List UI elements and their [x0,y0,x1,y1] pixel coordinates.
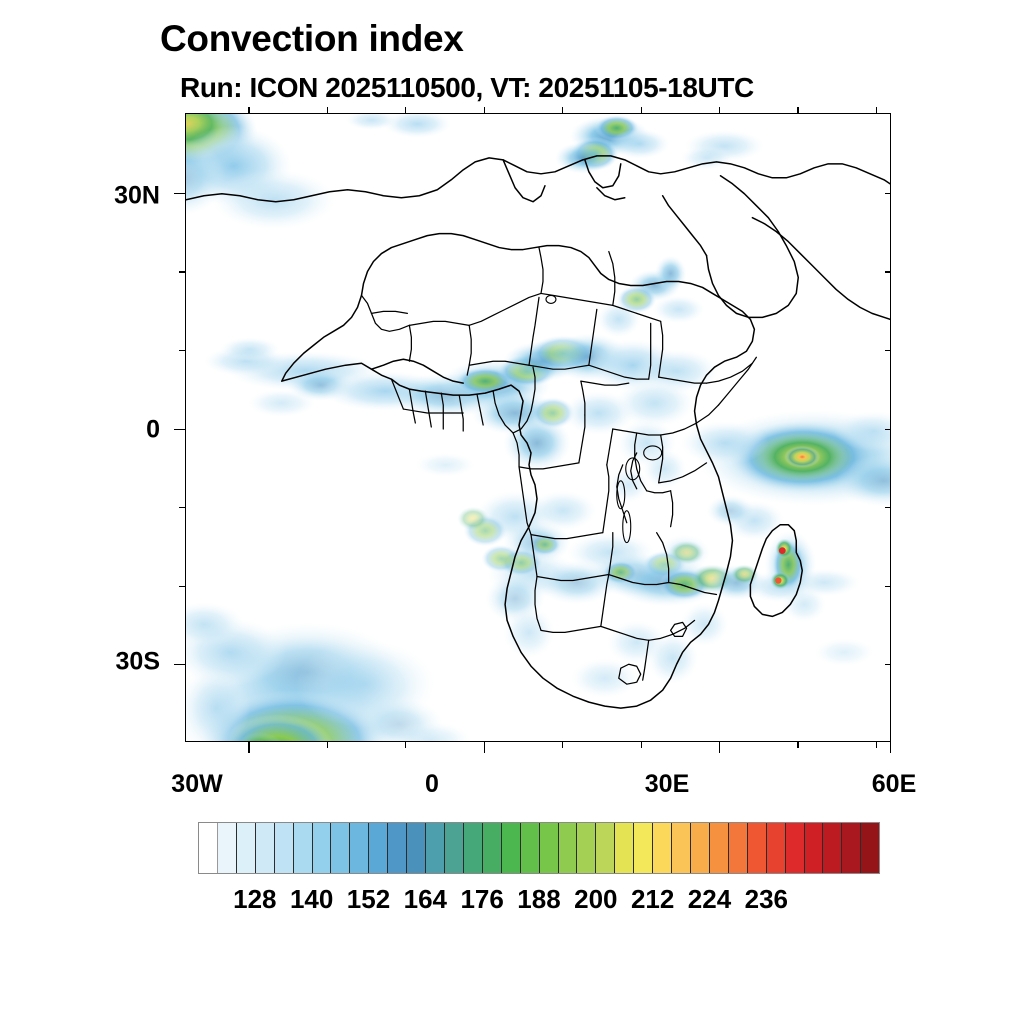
x-tick-60E [890,742,891,753]
colorbar-tick-label: 188 [517,884,560,915]
colorbar-cell [691,823,710,873]
colorbar-cell [369,823,388,873]
x-tick-top-0 [484,107,485,113]
colorbar-cell [294,823,313,873]
x-axis-label-30E: 30E [645,770,689,799]
y-tick-20S [179,586,185,587]
y-tick-30S [174,664,185,665]
colorbar-cell [331,823,350,873]
x-tick-top-10W [405,107,406,113]
map-plot-area [185,113,891,742]
colorbar-cell [596,823,615,873]
colorbar-cell [275,823,294,873]
y-tick-20N [179,271,185,272]
y-tick-right-20S [885,586,891,587]
colorbar-tick-label: 152 [347,884,390,915]
colorbar-cell [672,823,691,873]
x-tick-top-40E [797,107,798,113]
colorbar-cell [559,823,578,873]
colorbar-cell [540,823,559,873]
y-tick-10S [179,507,185,508]
colorbar-cell [426,823,445,873]
x-tick-top-50E [876,107,877,113]
y-tick-right-20N [885,271,891,272]
x-tick-top-30W [248,107,249,113]
y-tick-right-30N [885,193,891,194]
x-tick-30W [248,742,249,753]
colorbar-cell [577,823,596,873]
colorbar-tick-label: 164 [404,884,447,915]
y-axis-label-0: 0 [146,416,160,445]
colorbar-cell [464,823,483,873]
x-tick-20E [641,742,642,748]
x-axis-label-0: 0 [425,770,439,799]
map-canvas [186,114,890,741]
colorbar-tick-label: 176 [460,884,503,915]
y-tick-right-10N [885,350,891,351]
x-tick-top-10E [562,107,563,113]
colorbar-cell [521,823,540,873]
colorbar-cell [483,823,502,873]
x-tick-40E [797,742,798,748]
colorbar-cell [786,823,805,873]
y-tick-right-0 [885,429,891,430]
y-tick-30N [174,193,185,194]
x-tick-top-30E [719,107,720,113]
colorbar-cell [823,823,842,873]
x-tick-50E [876,742,877,748]
colorbar-cell [218,823,237,873]
y-tick-right-30S [885,664,891,665]
colorbar-tick-label: 140 [290,884,333,915]
colorbar-cells [198,822,880,874]
colorbar-cell [634,823,653,873]
colorbar-cell [445,823,464,873]
colorbar-cell [615,823,634,873]
colorbar-cell [313,823,332,873]
x-tick-top-20W [327,107,328,113]
colorbar-cell [350,823,369,873]
y-axis-label-30N: 30N [114,182,160,211]
colorbar-cell [256,823,275,873]
y-tick-right-10S [885,507,891,508]
colorbar-cell [748,823,767,873]
y-tick-0 [174,429,185,430]
colorbar-cell [199,823,218,873]
colorbar-tick-label: 200 [574,884,617,915]
colorbar-cell [388,823,407,873]
page-subtitle: Run: ICON 2025110500, VT: 20251105-18UTC [180,72,754,104]
x-tick-10E [562,742,563,748]
y-axis-label-30S: 30S [116,648,160,677]
colorbar-cell [805,823,824,873]
x-axis-label-30W: 30W [171,770,222,799]
colorbar-tick-label: 128 [233,884,276,915]
colorbar-tick-label: 224 [688,884,731,915]
colorbar-cell [237,823,256,873]
x-tick-20W [327,742,328,748]
x-tick-30E [719,742,720,753]
colorbar-cell [407,823,426,873]
colorbar-cell [842,823,861,873]
colorbar-cell [502,823,521,873]
colorbar [198,822,880,874]
colorbar-cell [767,823,786,873]
x-tick-10W [405,742,406,748]
colorbar-cell [653,823,672,873]
y-tick-10N [179,350,185,351]
colorbar-cell [710,823,729,873]
convection-index-figure: Convection index Run: ICON 2025110500, V… [0,0,1024,1024]
colorbar-tick-label: 212 [631,884,674,915]
x-tick-top-20E [641,107,642,113]
colorbar-cell [861,823,879,873]
x-tick-0 [484,742,485,753]
page-title: Convection index [160,18,464,60]
x-axis-label-60E: 60E [872,770,916,799]
colorbar-cell [729,823,748,873]
colorbar-tick-label: 236 [745,884,788,915]
